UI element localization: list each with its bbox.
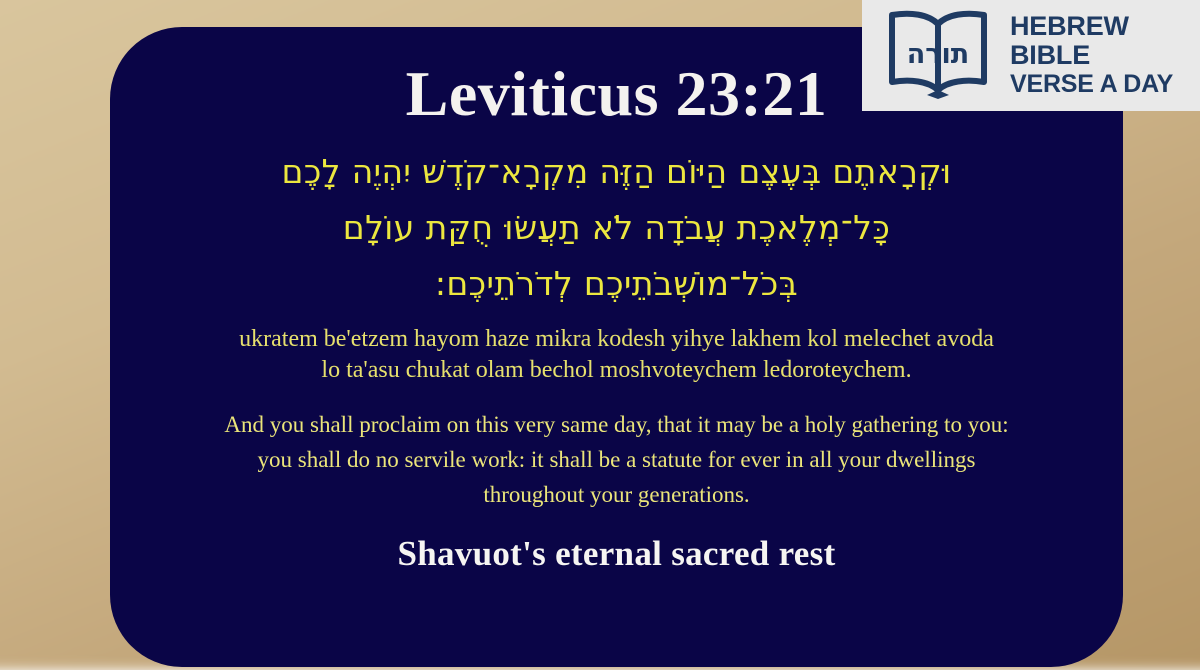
- hebrew-verse-line-2: כָּל־מְלֶאכֶת עֲבֹדָה לֹא תַעֲשׂוּ חֻקַּ…: [136, 200, 1097, 256]
- english-translation-text: And you shall proclaim on this very same…: [136, 407, 1097, 512]
- open-book-icon: תורה: [880, 6, 996, 105]
- brand-line-bible: BIBLE: [1010, 41, 1173, 70]
- hebrew-verse-block: וּקְרָאתֶם בְּעֶצֶם הַיּוֹם הַזֶּה מִקְר…: [136, 144, 1097, 312]
- brand-line-hebrew: HEBREW: [1010, 12, 1173, 41]
- brand-text: HEBREW BIBLE VERSE A DAY: [1010, 12, 1173, 99]
- logo-hebrew-word: תורה: [907, 39, 970, 70]
- hebrew-verse-line-3: בְּכֹל־מוֹשְׁבֹתֵיכֶם לְדֹרֹתֵיכֶם:: [136, 256, 1097, 312]
- brand-logo[interactable]: תורה HEBREW BIBLE VERSE A DAY: [862, 0, 1200, 111]
- verse-card: Leviticus 23:21 וּקְרָאתֶם בְּעֶצֶם הַיּ…: [110, 27, 1123, 667]
- transliteration-text: ukratem be'etzem hayom haze mikra kodesh…: [136, 324, 1097, 386]
- brand-line-verse-a-day: VERSE A DAY: [1010, 70, 1173, 99]
- hebrew-verse-line-1: וּקְרָאתֶם בְּעֶצֶם הַיּוֹם הַזֶּה מִקְר…: [136, 144, 1097, 200]
- verse-tagline: Shavuot's eternal sacred rest: [136, 534, 1097, 574]
